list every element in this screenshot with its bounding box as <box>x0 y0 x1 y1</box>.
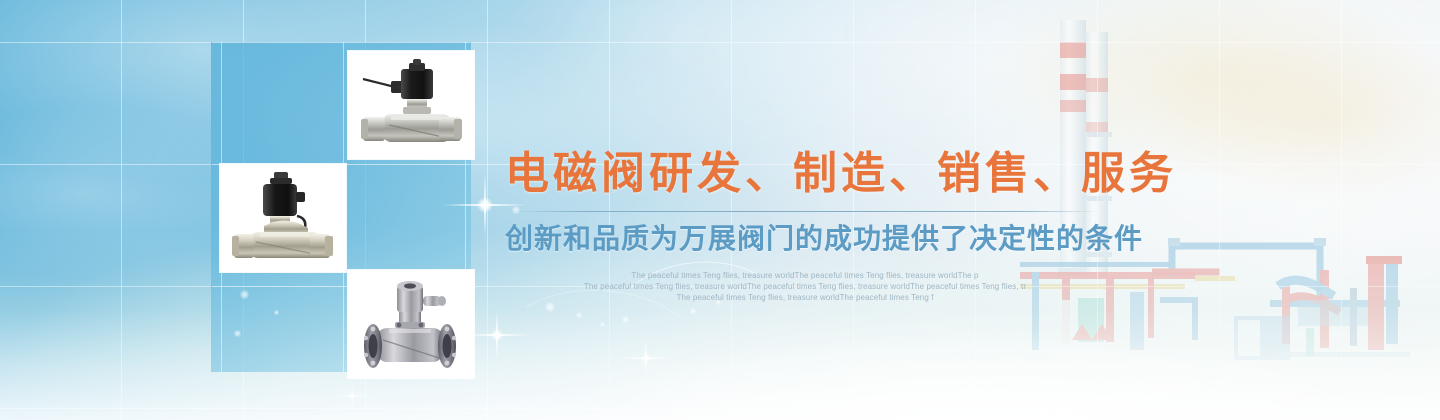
product-image-flanged-solenoid-valve-bottom[interactable] <box>348 270 474 378</box>
flange-right <box>438 324 456 368</box>
banner-subheadline: 创新和品质为万展阀门的成功提供了决定性的条件 <box>505 221 1105 256</box>
fineprint-line-1: The peaceful times Teng flies, treasure … <box>505 270 1105 281</box>
product-image-threaded-solenoid-valve-left[interactable] <box>220 164 346 272</box>
banner-text-block: 电磁阀研发、制造、销售、服务 创新和品质为万展阀门的成功提供了决定性的条件 Th… <box>505 148 1105 303</box>
banner-headline: 电磁阀研发、制造、销售、服务 <box>505 148 1105 200</box>
fineprint-line-2: The peaceful times Teng flies, treasure … <box>505 281 1105 292</box>
product-tile-panel <box>212 42 470 372</box>
product-image-threaded-solenoid-valve-top[interactable] <box>348 51 474 159</box>
headline-divider <box>515 211 1095 212</box>
banner-fineprint: The peaceful times Teng flies, treasure … <box>505 270 1105 303</box>
fineprint-line-3: The peaceful times Teng flies, treasure … <box>505 292 1105 303</box>
flange-left <box>364 324 382 368</box>
hero-banner: 电磁阀研发、制造、销售、服务 创新和品质为万展阀门的成功提供了决定性的条件 Th… <box>0 0 1440 420</box>
